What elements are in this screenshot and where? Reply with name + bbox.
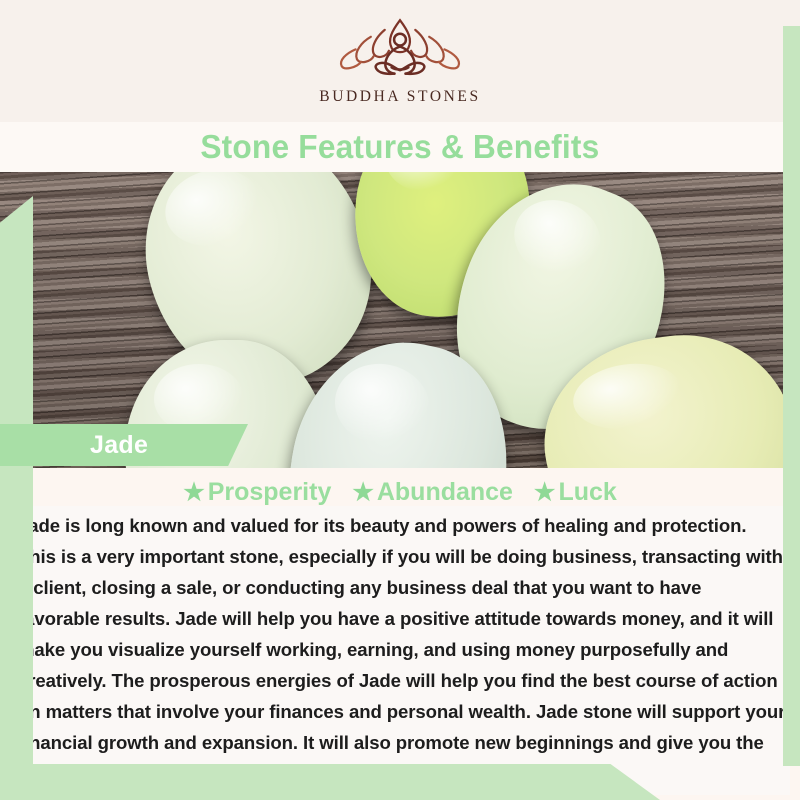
content-area: ★Prosperity ★Abundance ★Luck Jade is lon… — [0, 468, 800, 800]
benefit-label: Prosperity — [208, 478, 332, 506]
brand-header: BUDDHA STONES — [0, 0, 800, 122]
star-icon: ★ — [183, 479, 205, 506]
stone-photo — [0, 172, 800, 468]
star-icon: ★ — [534, 479, 556, 506]
title-banner: Stone Features & Benefits — [0, 122, 800, 172]
benefit-item-luck: ★Luck — [534, 478, 617, 507]
brand-name: BUDDHA STONES — [319, 88, 480, 106]
benefit-item-abundance: ★Abundance — [352, 478, 513, 507]
lotus-meditation-icon — [330, 16, 470, 82]
frame-accent-left — [0, 196, 33, 776]
benefit-item-prosperity: ★Prosperity — [183, 478, 331, 507]
benefits-list: ★Prosperity ★Abundance ★Luck — [0, 478, 800, 507]
benefit-label: Abundance — [377, 478, 513, 506]
stone-name-label: Jade — [0, 431, 148, 460]
poster: BUDDHA STONES Stone Features & Benefits … — [0, 0, 800, 800]
stone-name-banner: Jade — [0, 424, 248, 466]
description-text: Jade is long known and valued for its be… — [12, 506, 790, 795]
benefit-label: Luck — [558, 478, 616, 506]
frame-accent-right — [783, 26, 800, 766]
star-icon: ★ — [352, 479, 374, 506]
page-title: Stone Features & Benefits — [200, 128, 599, 166]
frame-accent-bottom — [0, 764, 660, 800]
